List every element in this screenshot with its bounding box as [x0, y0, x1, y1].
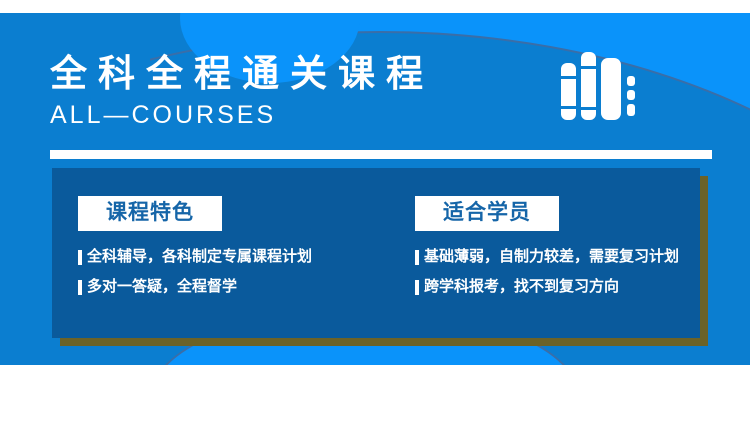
column-target-students: 适合学员 基础薄弱，自制力较差，需要复习计划 跨学科报考，找不到复习方向	[389, 168, 726, 338]
bullet-tick-icon	[78, 280, 82, 295]
list-item: 全科辅导，各科制定专属课程计划	[78, 242, 389, 272]
bullet-list-target-students: 基础薄弱，自制力较差，需要复习计划 跨学科报考，找不到复习方向	[415, 242, 726, 302]
bullet-text: 跨学科报考，找不到复习方向	[424, 272, 619, 302]
info-card-columns: 课程特色 全科辅导，各科制定专属课程计划 多对一答疑，全程督学 适合学员	[52, 168, 700, 338]
bullet-list-course-features: 全科辅导，各科制定专属课程计划 多对一答疑，全程督学	[78, 242, 389, 302]
column-title-course-features: 课程特色	[78, 196, 222, 231]
top-white-strip	[0, 0, 750, 13]
bullet-text: 多对一答疑，全程督学	[87, 272, 237, 302]
books-icon	[561, 50, 641, 120]
list-item: 跨学科报考，找不到复习方向	[415, 272, 726, 302]
divider-rule	[50, 150, 712, 159]
column-course-features: 课程特色 全科辅导，各科制定专属课程计划 多对一答疑，全程督学	[52, 168, 389, 338]
list-item: 多对一答疑，全程督学	[78, 272, 389, 302]
bullet-tick-icon	[415, 280, 419, 295]
bullet-tick-icon	[78, 250, 82, 265]
bottom-white-strip	[0, 365, 750, 424]
column-title-target-students: 适合学员	[415, 196, 559, 231]
bullet-text: 基础薄弱，自制力较差，需要复习计划	[424, 242, 679, 272]
course-promo-banner: 全科全程通关课程 ALL—COURSES 课程特色	[0, 0, 750, 424]
banner-subheadline: ALL—COURSES	[50, 100, 276, 130]
bullet-text: 全科辅导，各科制定专属课程计划	[87, 242, 312, 272]
banner-headline: 全科全程通关课程	[50, 50, 434, 98]
list-item: 基础薄弱，自制力较差，需要复习计划	[415, 242, 726, 272]
info-card: 课程特色 全科辅导，各科制定专属课程计划 多对一答疑，全程督学 适合学员	[52, 168, 700, 338]
bullet-tick-icon	[415, 250, 419, 265]
